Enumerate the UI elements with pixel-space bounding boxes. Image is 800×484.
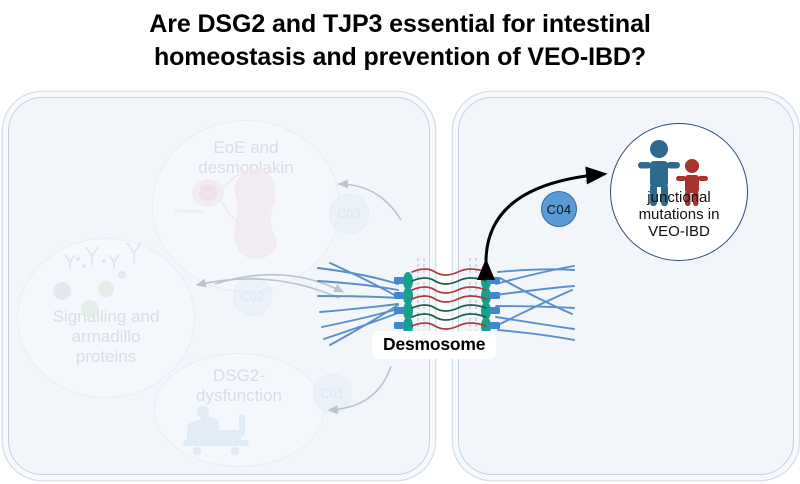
figure-canvas: Are DSG2 and TJP3 essential for intestin… xyxy=(0,0,800,484)
keratin-filaments-right xyxy=(496,266,574,340)
veo-ibd-callout-circle[interactable]: junctional mutations in VEO-IBD xyxy=(610,123,748,261)
veo-ibd-label: junctional mutations in VEO-IBD xyxy=(611,190,747,240)
desmosome-label: Desmosome xyxy=(372,331,496,359)
desmosomal-cadherins xyxy=(412,269,486,329)
arrow-desmosome-to-veoibd xyxy=(486,174,604,262)
